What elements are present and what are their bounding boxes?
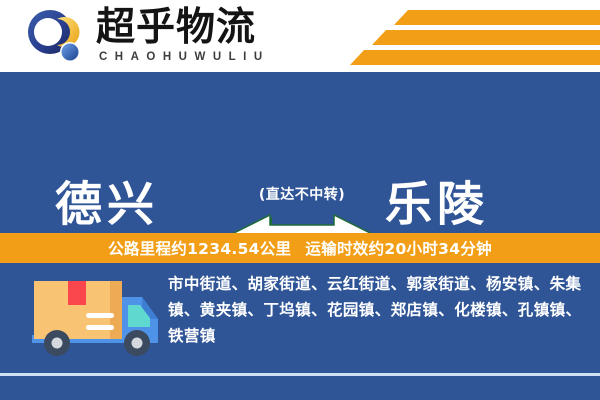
banner-footer <box>0 376 600 400</box>
origin-city: 德兴 <box>55 166 159 235</box>
banner-header: 超乎物流 CHAOHUWULIU <box>0 0 600 72</box>
brand-name-cn: 超乎物流 <box>96 6 270 50</box>
distance-text: 公路里程约1234.54公里 <box>108 237 291 259</box>
brand-name-en: CHAOHUWULIU <box>99 51 270 64</box>
covered-towns-list: 市中街道、胡家街道、云红街道、郭家街道、杨安镇、朱集镇、黄夹镇、丁坞镇、花园镇、… <box>168 271 584 349</box>
destination-city: 乐陵 <box>385 166 489 235</box>
route-info-bar: 公路里程约1234.54公里 运输时效约20小时34分钟 <box>0 233 600 263</box>
coverage-area: 市中街道、胡家街道、云红街道、郭家街道、杨安镇、朱集镇、黄夹镇、丁坞镇、花园镇、… <box>0 263 600 373</box>
stripe-3 <box>350 50 600 65</box>
delivery-truck-icon <box>24 275 160 366</box>
orange-stripes-decoration <box>332 6 600 68</box>
logistics-banner: 超乎物流 CHAOHUWULIU 德兴 (直达不中转) 【往返运输】 <box>0 0 600 400</box>
chaohu-circle-logo-icon <box>26 9 84 65</box>
stripe-2 <box>372 30 600 45</box>
direct-service-note: (直达不中转) <box>232 184 372 204</box>
stripe-1 <box>394 10 600 25</box>
duration-text: 运输时效约20小时34分钟 <box>305 237 492 259</box>
route-panel: 德兴 (直达不中转) 【往返运输】 乐陵 <box>0 72 600 228</box>
brand-lockup: 超乎物流 CHAOHUWULIU <box>96 6 270 64</box>
